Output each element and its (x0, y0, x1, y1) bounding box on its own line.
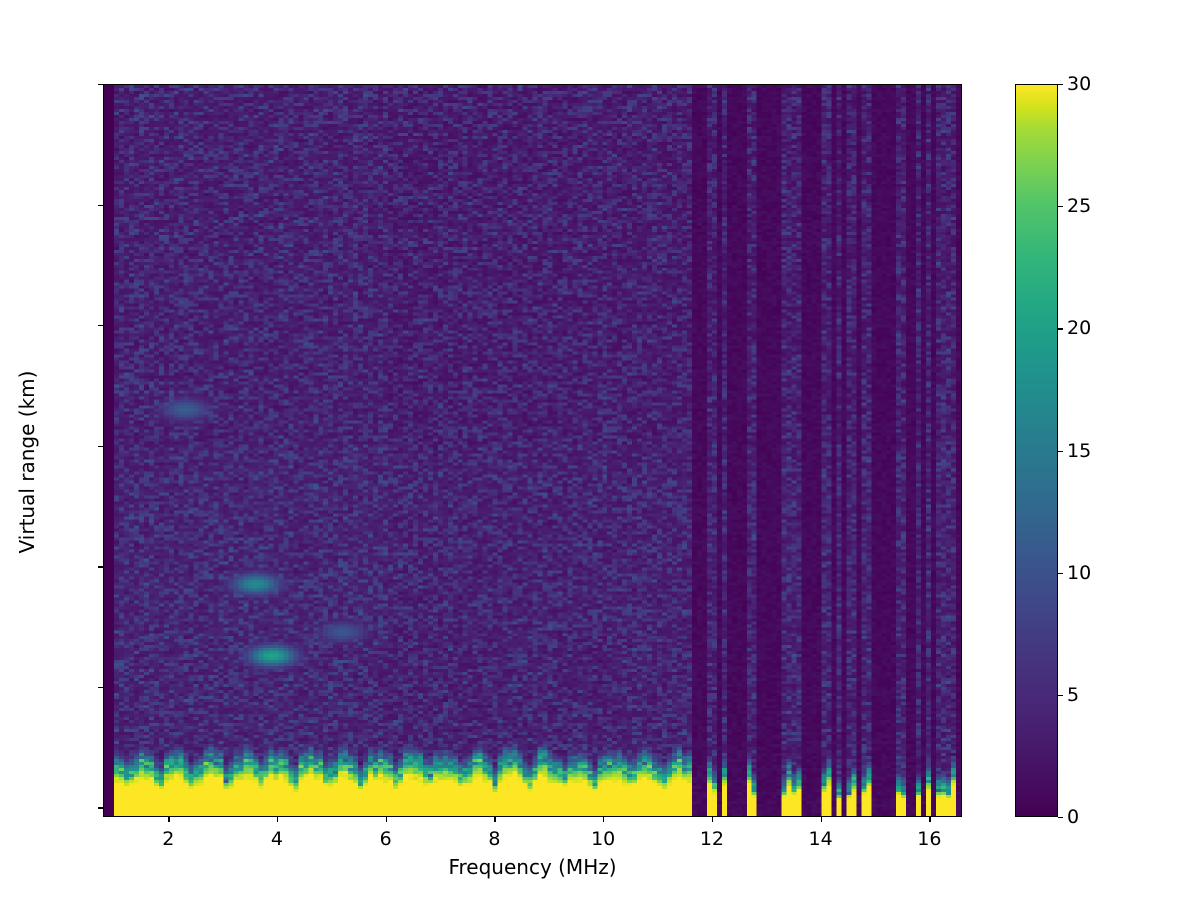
colorbar-tick-label: 0 (1067, 806, 1079, 828)
colorbar-tick-mark (1058, 206, 1063, 207)
colorbar-tick-label: 15 (1067, 440, 1091, 462)
colorbar-tick-label: 25 (1067, 195, 1091, 217)
colorbar-tick-label: 5 (1067, 684, 1079, 706)
colorbar-tick-label: 30 (1067, 73, 1091, 95)
colorbar-tick-label: 10 (1067, 562, 1091, 584)
colorbar-tick-mark (1058, 84, 1063, 85)
colorbar-tick-mark (1058, 817, 1063, 818)
colorbar-tick-mark (1058, 451, 1063, 452)
colorbar-tick-mark (1058, 695, 1063, 696)
colorbar-tick-mark (1058, 328, 1063, 329)
figure-root: IRF Kiruna Ionosonde KI167 2025-09-23 00… (0, 0, 1200, 900)
colorbar-tick-mark (1058, 573, 1063, 574)
colorbar-ticks: 051015202530 (0, 0, 1200, 900)
colorbar-tick-label: 20 (1067, 317, 1091, 339)
